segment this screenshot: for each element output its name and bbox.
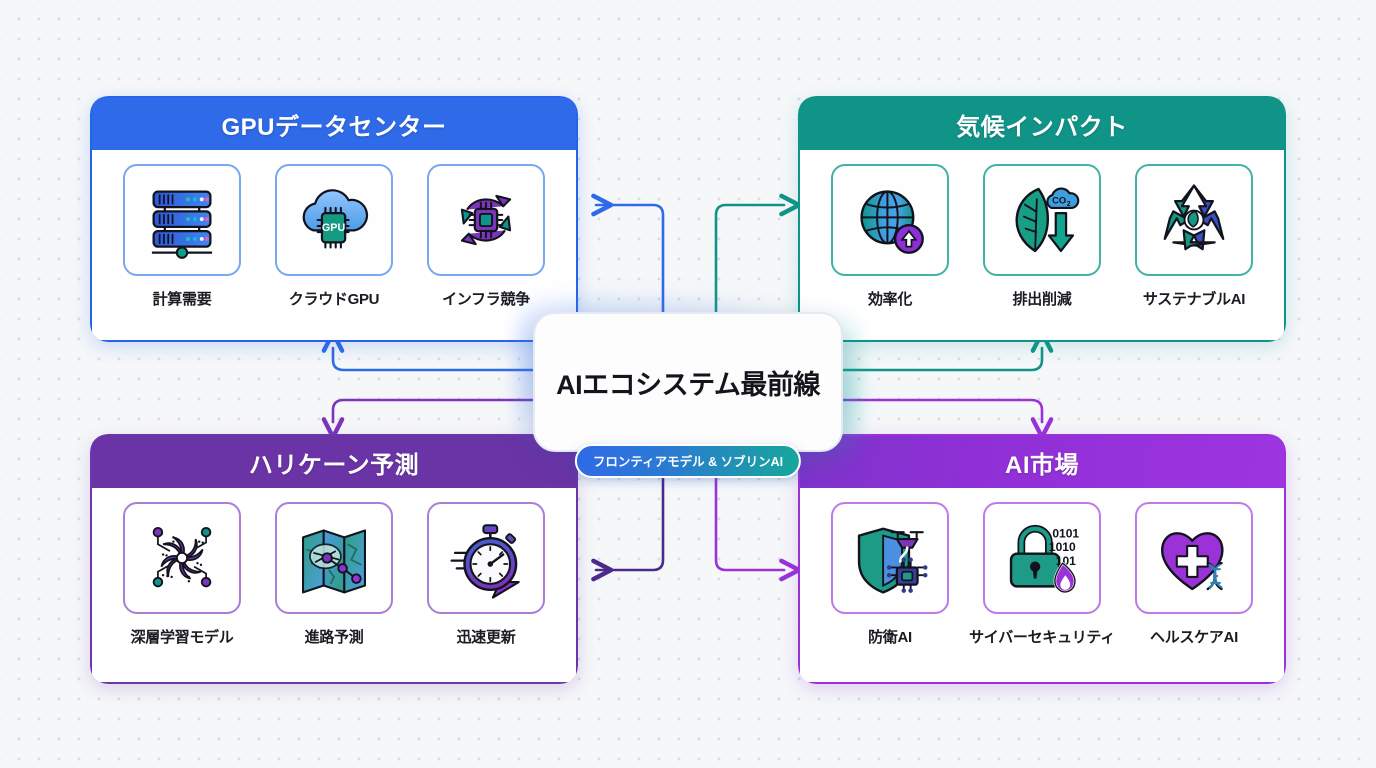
item-healthcare-ai[interactable]: ヘルスケアAI (1130, 502, 1258, 647)
panel-body-hurricane: 深層学習モデル (92, 488, 576, 682)
stopwatch-bolt-icon (443, 515, 529, 601)
item-label: インフラ競争 (442, 288, 530, 309)
binary-line-1: 0101 (1052, 526, 1079, 540)
center-hub[interactable]: AIエコシステム最前線 フロンティアモデル & ソブリンAI (533, 312, 843, 452)
tile-cybersecurity[interactable]: 0101 1010 101 (983, 502, 1101, 614)
tile-healthcare-ai[interactable] (1135, 502, 1253, 614)
item-deep-learning-model[interactable]: 深層学習モデル (118, 502, 246, 647)
hurricane-neural-icon (139, 515, 225, 601)
tile-cloud-gpu[interactable]: GPU (275, 164, 393, 276)
tile-rapid-update[interactable] (427, 502, 545, 614)
tile-compute-demand[interactable] (123, 164, 241, 276)
item-label: サイバーセキュリティ (969, 626, 1115, 647)
item-label: 深層学習モデル (131, 626, 234, 647)
connector-gpu-to-hub (333, 348, 536, 370)
item-rapid-update[interactable]: 迅速更新 (422, 502, 550, 647)
binary-line-2: 1010 (1049, 540, 1076, 554)
tile-infra-competition[interactable] (427, 164, 545, 276)
chip-arrows-icon (443, 177, 529, 263)
panel-gpu-datacenter[interactable]: GPUデータセンター (90, 96, 578, 342)
item-cybersecurity[interactable]: 0101 1010 101 サイバーセキュリティ (978, 502, 1106, 647)
item-cloud-gpu[interactable]: GPU クラウドGPU (270, 164, 398, 309)
tile-efficiency[interactable] (831, 164, 949, 276)
leaf-co2-down-icon: CO 2 (999, 177, 1085, 263)
panel-hurricane-forecast[interactable]: ハリケーン予測 (90, 434, 578, 684)
panel-body-market: 防衛AI 0101 1010 101 (800, 488, 1284, 682)
diagram-canvas: GPUデータセンター (0, 0, 1376, 768)
item-emission-reduction[interactable]: CO 2 排出削減 (978, 164, 1106, 309)
panel-title-hurricane: ハリケーン予測 (92, 436, 576, 488)
connector-hub-to-market (842, 400, 1042, 422)
tile-sustainable-ai[interactable] (1135, 164, 1253, 276)
map-track-icon (291, 515, 377, 601)
connector-hub-to-hurricane (333, 400, 536, 422)
hub-box[interactable]: AIエコシステム最前線 (533, 312, 843, 452)
connector-hurricane-to-hub (596, 466, 663, 570)
item-label: 計算需要 (153, 288, 212, 309)
item-sustainable-ai[interactable]: サステナブルAI (1130, 164, 1258, 309)
item-label: ヘルスケアAI (1150, 626, 1238, 647)
item-efficiency[interactable]: 効率化 (826, 164, 954, 309)
co2-text: CO (1052, 196, 1066, 207)
item-label: サステナブルAI (1143, 288, 1245, 309)
tile-emission-reduction[interactable]: CO 2 (983, 164, 1101, 276)
item-label: 防衛AI (868, 626, 912, 647)
tile-defense-ai[interactable] (831, 502, 949, 614)
recycle-leaf-icon (1151, 177, 1237, 263)
cloud-gpu-icon: GPU (291, 177, 377, 263)
panel-title-gpu: GPUデータセンター (92, 98, 576, 150)
panel-climate-impact[interactable]: 気候インパクト (798, 96, 1286, 342)
shield-drone-chip-icon (847, 515, 933, 601)
co2-subscript: 2 (1067, 201, 1071, 208)
server-rack-icon (139, 177, 225, 263)
tile-track-forecast[interactable] (275, 502, 393, 614)
connector-climate-to-hub (842, 348, 1042, 370)
panel-title-climate: 気候インパクト (800, 98, 1284, 150)
panel-ai-market[interactable]: AI市場 (798, 434, 1286, 684)
item-label: 進路予測 (305, 626, 364, 647)
item-label: 効率化 (868, 288, 912, 309)
item-label: クラウドGPU (289, 288, 379, 309)
lock-binary-flame-icon: 0101 1010 101 (999, 515, 1085, 601)
item-label: 排出削減 (1013, 288, 1072, 309)
hub-title: AIエコシステム最前線 (556, 363, 820, 402)
globe-up-arrow-icon (847, 177, 933, 263)
item-compute-demand[interactable]: 計算需要 (118, 164, 246, 309)
panel-title-market: AI市場 (800, 436, 1284, 488)
gpu-chip-text: GPU (322, 222, 346, 234)
panel-body-climate: 効率化 CO 2 (800, 150, 1284, 340)
heart-dna-icon (1151, 515, 1237, 601)
item-label: 迅速更新 (457, 626, 516, 647)
item-infra-competition[interactable]: インフラ競争 (422, 164, 550, 309)
tile-deep-learning-model[interactable] (123, 502, 241, 614)
panel-body-gpu: 計算需要 (92, 150, 576, 340)
item-defense-ai[interactable]: 防衛AI (826, 502, 954, 647)
hub-badge: フロンティアモデル & ソブリンAI (575, 444, 801, 478)
connector-market-to-hub (716, 466, 784, 570)
item-track-forecast[interactable]: 進路予測 (270, 502, 398, 647)
